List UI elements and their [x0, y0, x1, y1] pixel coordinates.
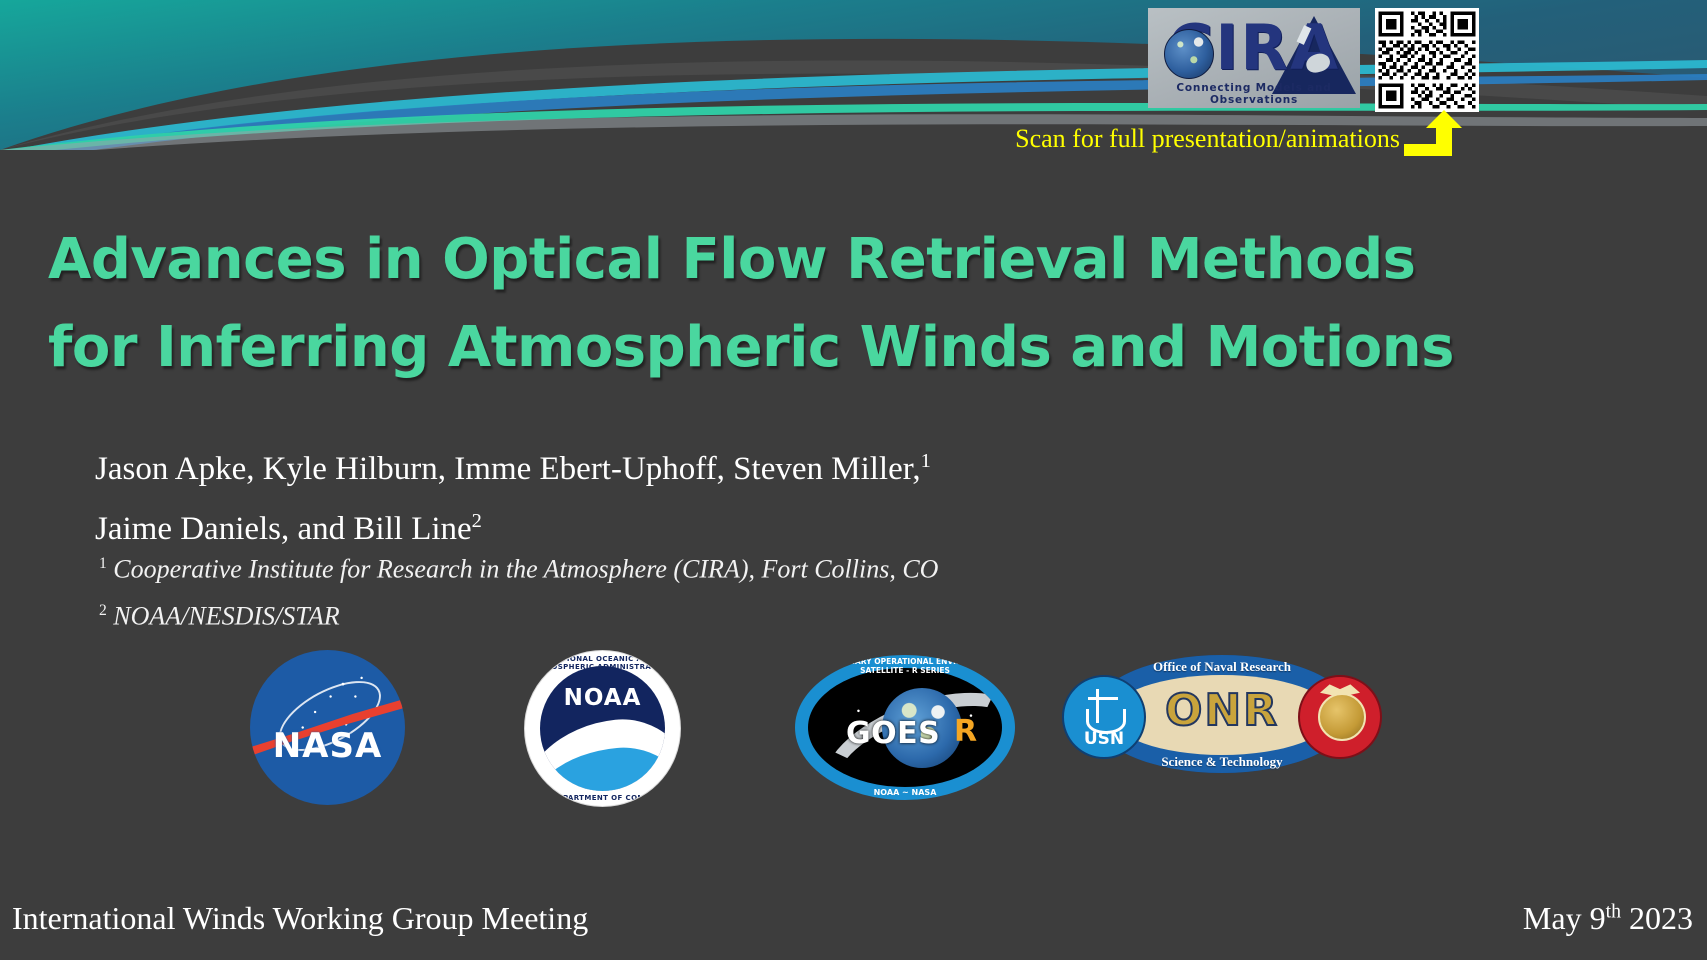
usmc-globe-icon: [1318, 693, 1366, 741]
footer-date-year: 2023: [1621, 900, 1693, 936]
globe-icon: [1164, 29, 1214, 79]
goes-inner-oval: GOES R: [808, 668, 1002, 787]
noaa-wordmark: NOAA: [525, 685, 680, 711]
onr-arc-top-text: Office of Naval Research: [1092, 659, 1352, 675]
affiliation-1: 1 Cooperative Institute for Research in …: [99, 543, 1349, 590]
noaa-logo: NATIONAL OCEANIC AND ATMOSPHERIC ADMINIS…: [524, 650, 681, 807]
onr-logo: ONR Office of Naval Research Science & T…: [1062, 655, 1382, 773]
footer-date-main: May 9: [1523, 900, 1606, 936]
footer-date: May 9th 2023: [1523, 900, 1693, 937]
usn-badge: USN: [1062, 675, 1146, 759]
qr-code[interactable]: [1375, 8, 1479, 112]
author-line-1-superscript: 1: [921, 450, 931, 472]
goes-r-logo: GOES R GEOSTATIONARY OPERATIONAL ENVIRON…: [795, 655, 1015, 800]
goes-arc-bottom-text: NOAA ~ NASA: [795, 788, 1015, 797]
author-line-2-superscript: 2: [472, 510, 482, 532]
title-line-1: Advances in Optical Flow Retrieval Metho…: [48, 216, 1468, 304]
affiliation-2: 2 NOAA/NESDIS/STAR: [99, 590, 1349, 637]
usmc-badge: [1298, 675, 1382, 759]
affiliation-1-text: Cooperative Institute for Research in th…: [107, 555, 939, 584]
scan-caption: Scan for full presentation/animations: [905, 124, 1400, 154]
up-arrow-icon: [1404, 110, 1464, 162]
onr-arc-bottom-text: Science & Technology: [1092, 754, 1352, 770]
nasa-wordmark: NASA: [250, 726, 405, 766]
goes-wordmark: GOES: [846, 716, 940, 751]
cira-logo: CIRA Connecting Models and Observations: [1148, 8, 1360, 108]
author-line-1: Jason Apke, Kyle Hilburn, Imme Ebert-Uph…: [95, 435, 1295, 495]
author-line-1-text: Jason Apke, Kyle Hilburn, Imme Ebert-Uph…: [95, 451, 921, 487]
affiliation-2-marker: 2: [99, 602, 107, 619]
anchor-crossbar-icon: [1088, 697, 1118, 700]
usn-label: USN: [1064, 729, 1144, 749]
page-title: Advances in Optical Flow Retrieval Metho…: [48, 216, 1468, 392]
presentation-slide: CIRA Connecting Models and Observations: [0, 0, 1707, 960]
footer-date-ordinal: th: [1606, 900, 1621, 922]
affiliation-list: 1 Cooperative Institute for Research in …: [99, 543, 1349, 636]
author-line-2-text: Jaime Daniels, and Bill Line: [95, 511, 472, 547]
title-line-2: for Inferring Atmospheric Winds and Moti…: [48, 304, 1468, 392]
affiliation-1-marker: 1: [99, 555, 107, 572]
nasa-logo: NASA: [250, 650, 405, 805]
goes-r-mark: R: [954, 714, 977, 749]
affiliation-2-text: NOAA/NESDIS/STAR: [107, 601, 340, 630]
goes-arc-top-text: GEOSTATIONARY OPERATIONAL ENVIRONMENTAL …: [795, 657, 1015, 675]
noaa-arc-bottom-text: U.S. DEPARTMENT OF COMMERCE: [525, 794, 680, 802]
author-list: Jason Apke, Kyle Hilburn, Imme Ebert-Uph…: [95, 435, 1295, 555]
footer-event-name: International Winds Working Group Meetin…: [12, 900, 588, 937]
cira-tagline: Connecting Models and Observations: [1148, 82, 1360, 106]
